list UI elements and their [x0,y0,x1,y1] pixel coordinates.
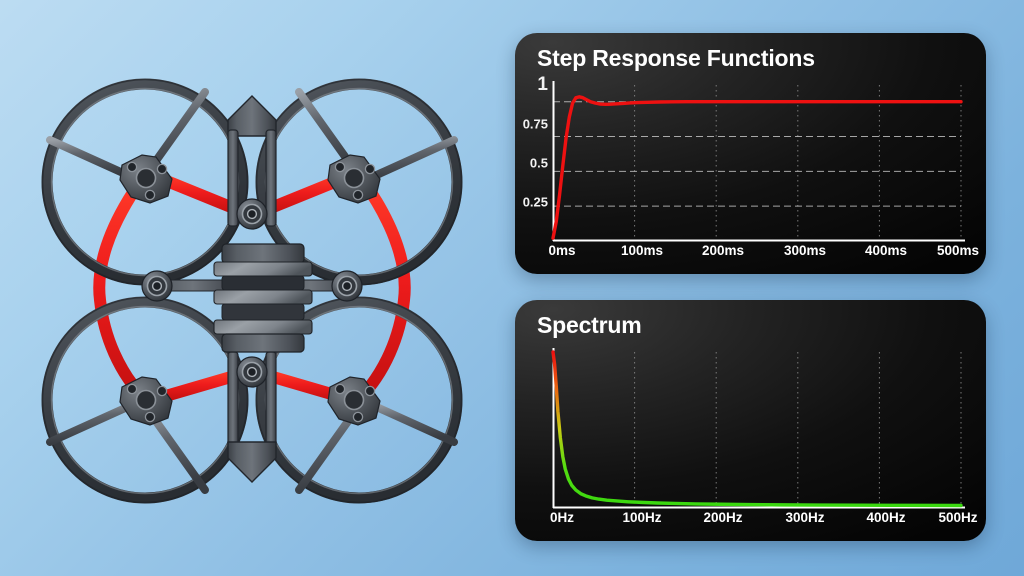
duct-top-left [43,80,248,285]
drone-illustration [0,0,500,576]
step-response-card: Step Response Functions 1 0.75 0.5 0.25 … [515,33,986,274]
x-tick-200ms: 200ms [702,243,744,258]
spectrum-title: Spectrum [537,312,641,339]
y-tick-1: 1 [537,74,548,96]
drone-center-body [142,96,362,482]
x-tick-200hz: 200Hz [703,510,742,525]
x-tick-300ms: 300ms [784,243,826,258]
x-tick-100ms: 100ms [621,243,663,258]
y-tick-075: 0.75 [523,117,548,132]
x-tick-400hz: 400Hz [866,510,905,525]
x-tick-0hz: 0Hz [550,510,574,525]
x-tick-300hz: 300Hz [785,510,824,525]
x-tick-0ms: 0ms [548,243,575,258]
standoff-bottom [237,357,267,387]
spectrum-card: Spectrum 0Hz 100Hz 200Hz 300Hz 400Hz 500… [515,300,986,541]
y-tick-025: 0.25 [523,195,548,210]
spectrum-plot [553,352,961,508]
step-response-x-axis: 0ms 100ms 200ms 300ms 400ms 500ms [515,243,986,265]
standoff-right [332,271,362,301]
standoff-top [237,199,267,229]
step-response-plot [553,85,961,241]
drone-render-panel [0,0,500,576]
spectrum-x-axis: 0Hz 100Hz 200Hz 300Hz 400Hz 500Hz [515,510,986,532]
x-tick-500hz: 500Hz [938,510,977,525]
standoff-left [142,271,172,301]
x-tick-500ms: 500ms [937,243,979,258]
y-tick-05: 0.5 [530,156,548,171]
x-tick-100hz: 100Hz [622,510,661,525]
step-response-title: Step Response Functions [537,45,815,72]
x-tick-400ms: 400ms [865,243,907,258]
step-response-y-axis: 1 0.75 0.5 0.25 [515,85,551,241]
